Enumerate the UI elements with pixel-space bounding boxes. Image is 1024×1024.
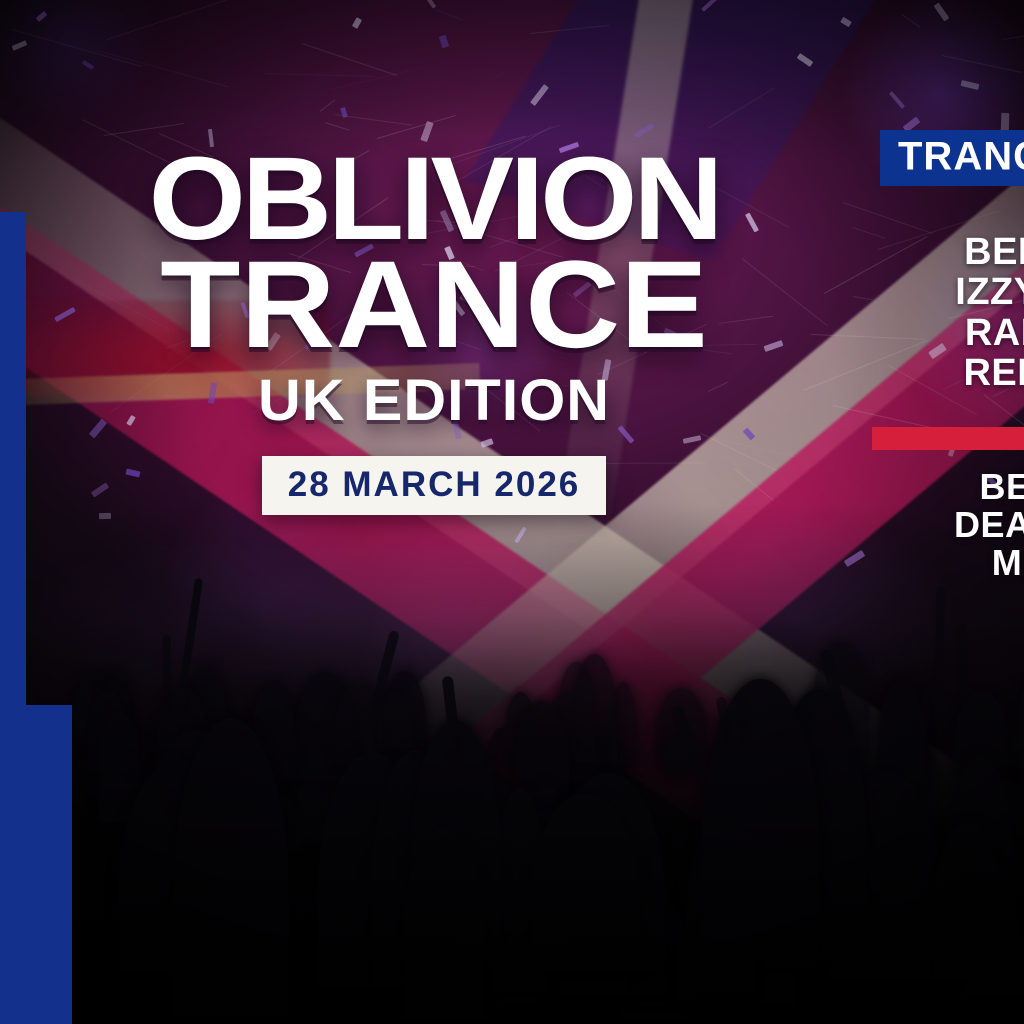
headliner-list: BEN VAN IZZYMA RALPHIE RENE AB [880,232,1024,393]
lineup-panel: TRANCE BEN VAN IZZYMA RALPHIE RENE AB BE… [855,130,1024,583]
lineup-divider-rule [872,427,1024,450]
title-line-trance: TRANCE [0,253,894,357]
title-line-oblivion: OBLIVION [0,150,894,249]
lineup-artist: IZZY [955,271,1024,313]
lineup-banner-label: TRANCE [898,135,1024,180]
title-edition: UK EDITION [0,367,877,434]
lineup-banner: TRANCE [880,130,1024,186]
event-poster: OBLIVION TRANCE UK EDITION 28 MARCH 2026… [0,0,1024,1024]
lineup-row: DEAN ZON [880,506,1024,544]
title-block: OBLIVION TRANCE UK EDITION 28 MARCH 2026 [0,150,868,515]
lineup-row: MITCH [880,544,1024,582]
lineup-row: BEN HA [880,468,1024,506]
lineup-row: RALPHIE [880,313,1024,353]
lineup-row: IZZYMA [880,272,1024,312]
left-accent-foot [0,705,72,1024]
event-date-badge: 28 MARCH 2026 [262,456,607,515]
support-list: BEN HA DEAN ZON MITCH [880,468,1024,582]
lineup-row: BEN VAN [880,232,1024,272]
lineup-row: RENE AB [880,353,1024,393]
